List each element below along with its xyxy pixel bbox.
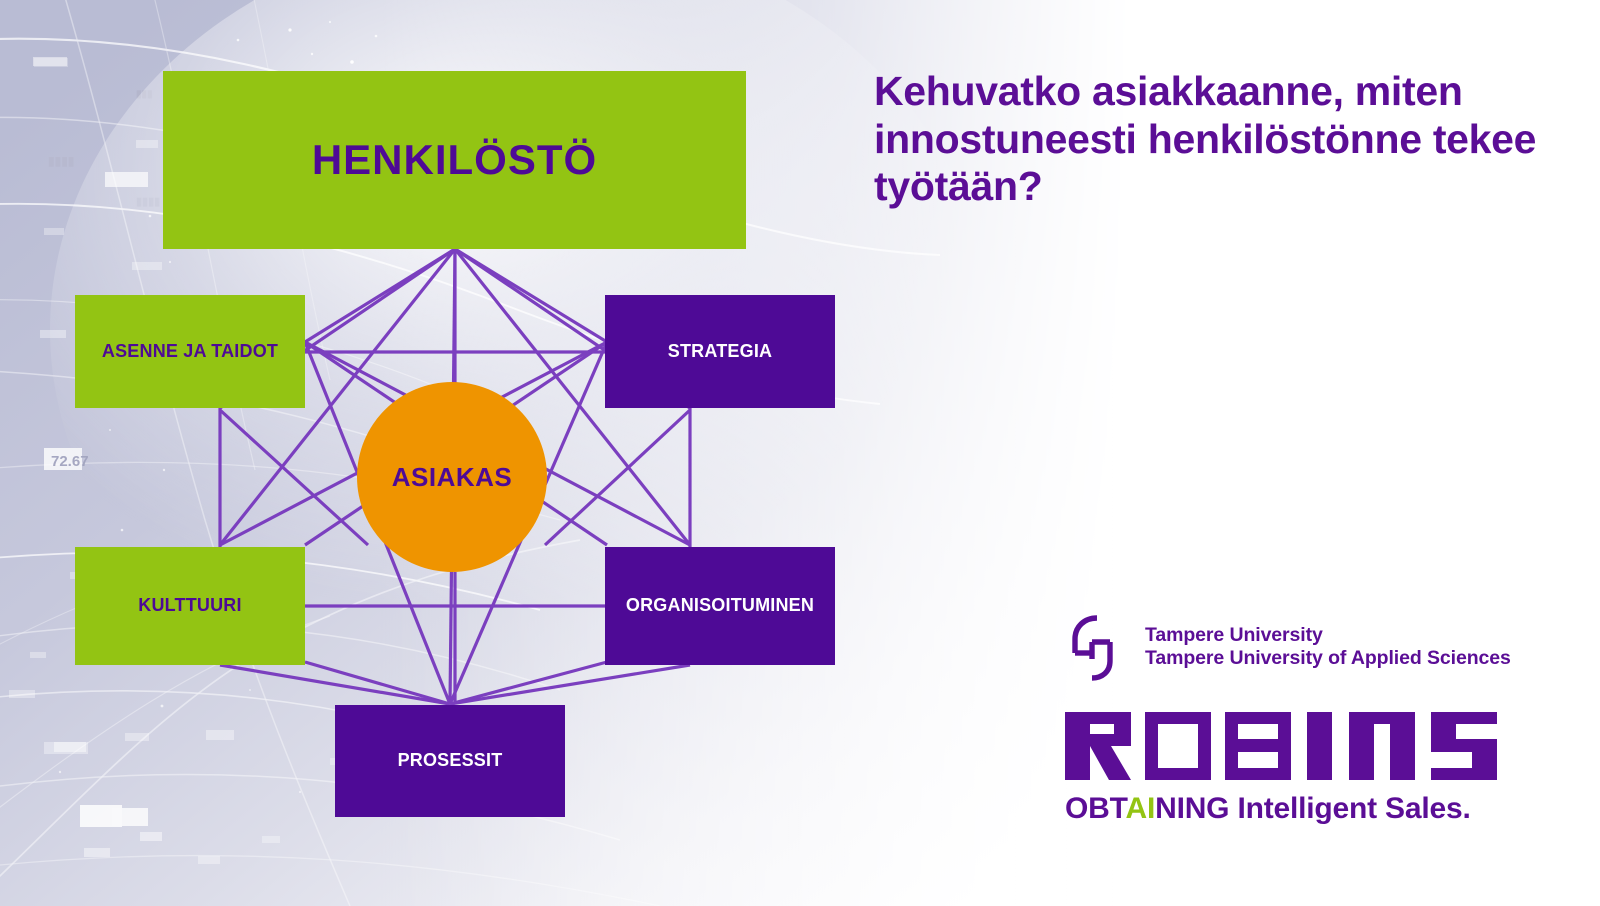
network-diagram: HENKILÖSTÖ ASENNE JA TAIDOT STRATEGIA KU…: [0, 0, 900, 906]
tagline-suffix: NING Intelligent Sales.: [1155, 792, 1470, 825]
diagram-node-prosessit[interactable]: PROSESSIT: [335, 705, 565, 817]
node-label: PROSESSIT: [398, 751, 503, 771]
tampere-university-logo: Tampere University Tampere University of…: [1065, 612, 1585, 682]
diagram-node-organisoituminen[interactable]: ORGANISOITUMINEN: [605, 547, 835, 665]
node-label: ORGANISOITUMINEN: [626, 596, 814, 616]
node-label: HENKILÖSTÖ: [312, 137, 597, 183]
tampere-university-names: Tampere University Tampere University of…: [1145, 624, 1511, 670]
slide-headline: Kehuvatko asiakkaanne, miten innostunees…: [874, 68, 1574, 211]
right-content-panel: Kehuvatko asiakkaanne, miten innostunees…: [860, 0, 1600, 906]
robins-tagline: OBTAINING Intelligent Sales.: [1065, 792, 1585, 826]
tampere-university-monogram-icon: [1065, 612, 1131, 682]
diagram-node-asiakas-center[interactable]: ASIAKAS: [357, 382, 547, 572]
university-line-1: Tampere University: [1145, 624, 1511, 647]
diagram-node-asenne-ja-taidot[interactable]: ASENNE JA TAIDOT: [75, 295, 305, 408]
tagline-prefix: OBT: [1065, 792, 1126, 825]
diagram-node-strategia[interactable]: STRATEGIA: [605, 295, 835, 408]
node-label: ASENNE JA TAIDOT: [102, 342, 278, 362]
diagram-node-henkilosto[interactable]: HENKILÖSTÖ: [163, 71, 746, 249]
node-label: KULTTUURI: [138, 596, 241, 616]
university-line-2: Tampere University of Applied Sciences: [1145, 647, 1511, 670]
robins-wordmark-logo: [1065, 712, 1525, 780]
tagline-ai-highlight: AI: [1126, 792, 1156, 825]
diagram-node-kulttuuri[interactable]: KULTTUURI: [75, 547, 305, 665]
brand-lockup: Tampere University Tampere University of…: [1065, 612, 1585, 826]
node-label: ASIAKAS: [392, 463, 513, 492]
node-label: STRATEGIA: [668, 342, 772, 362]
